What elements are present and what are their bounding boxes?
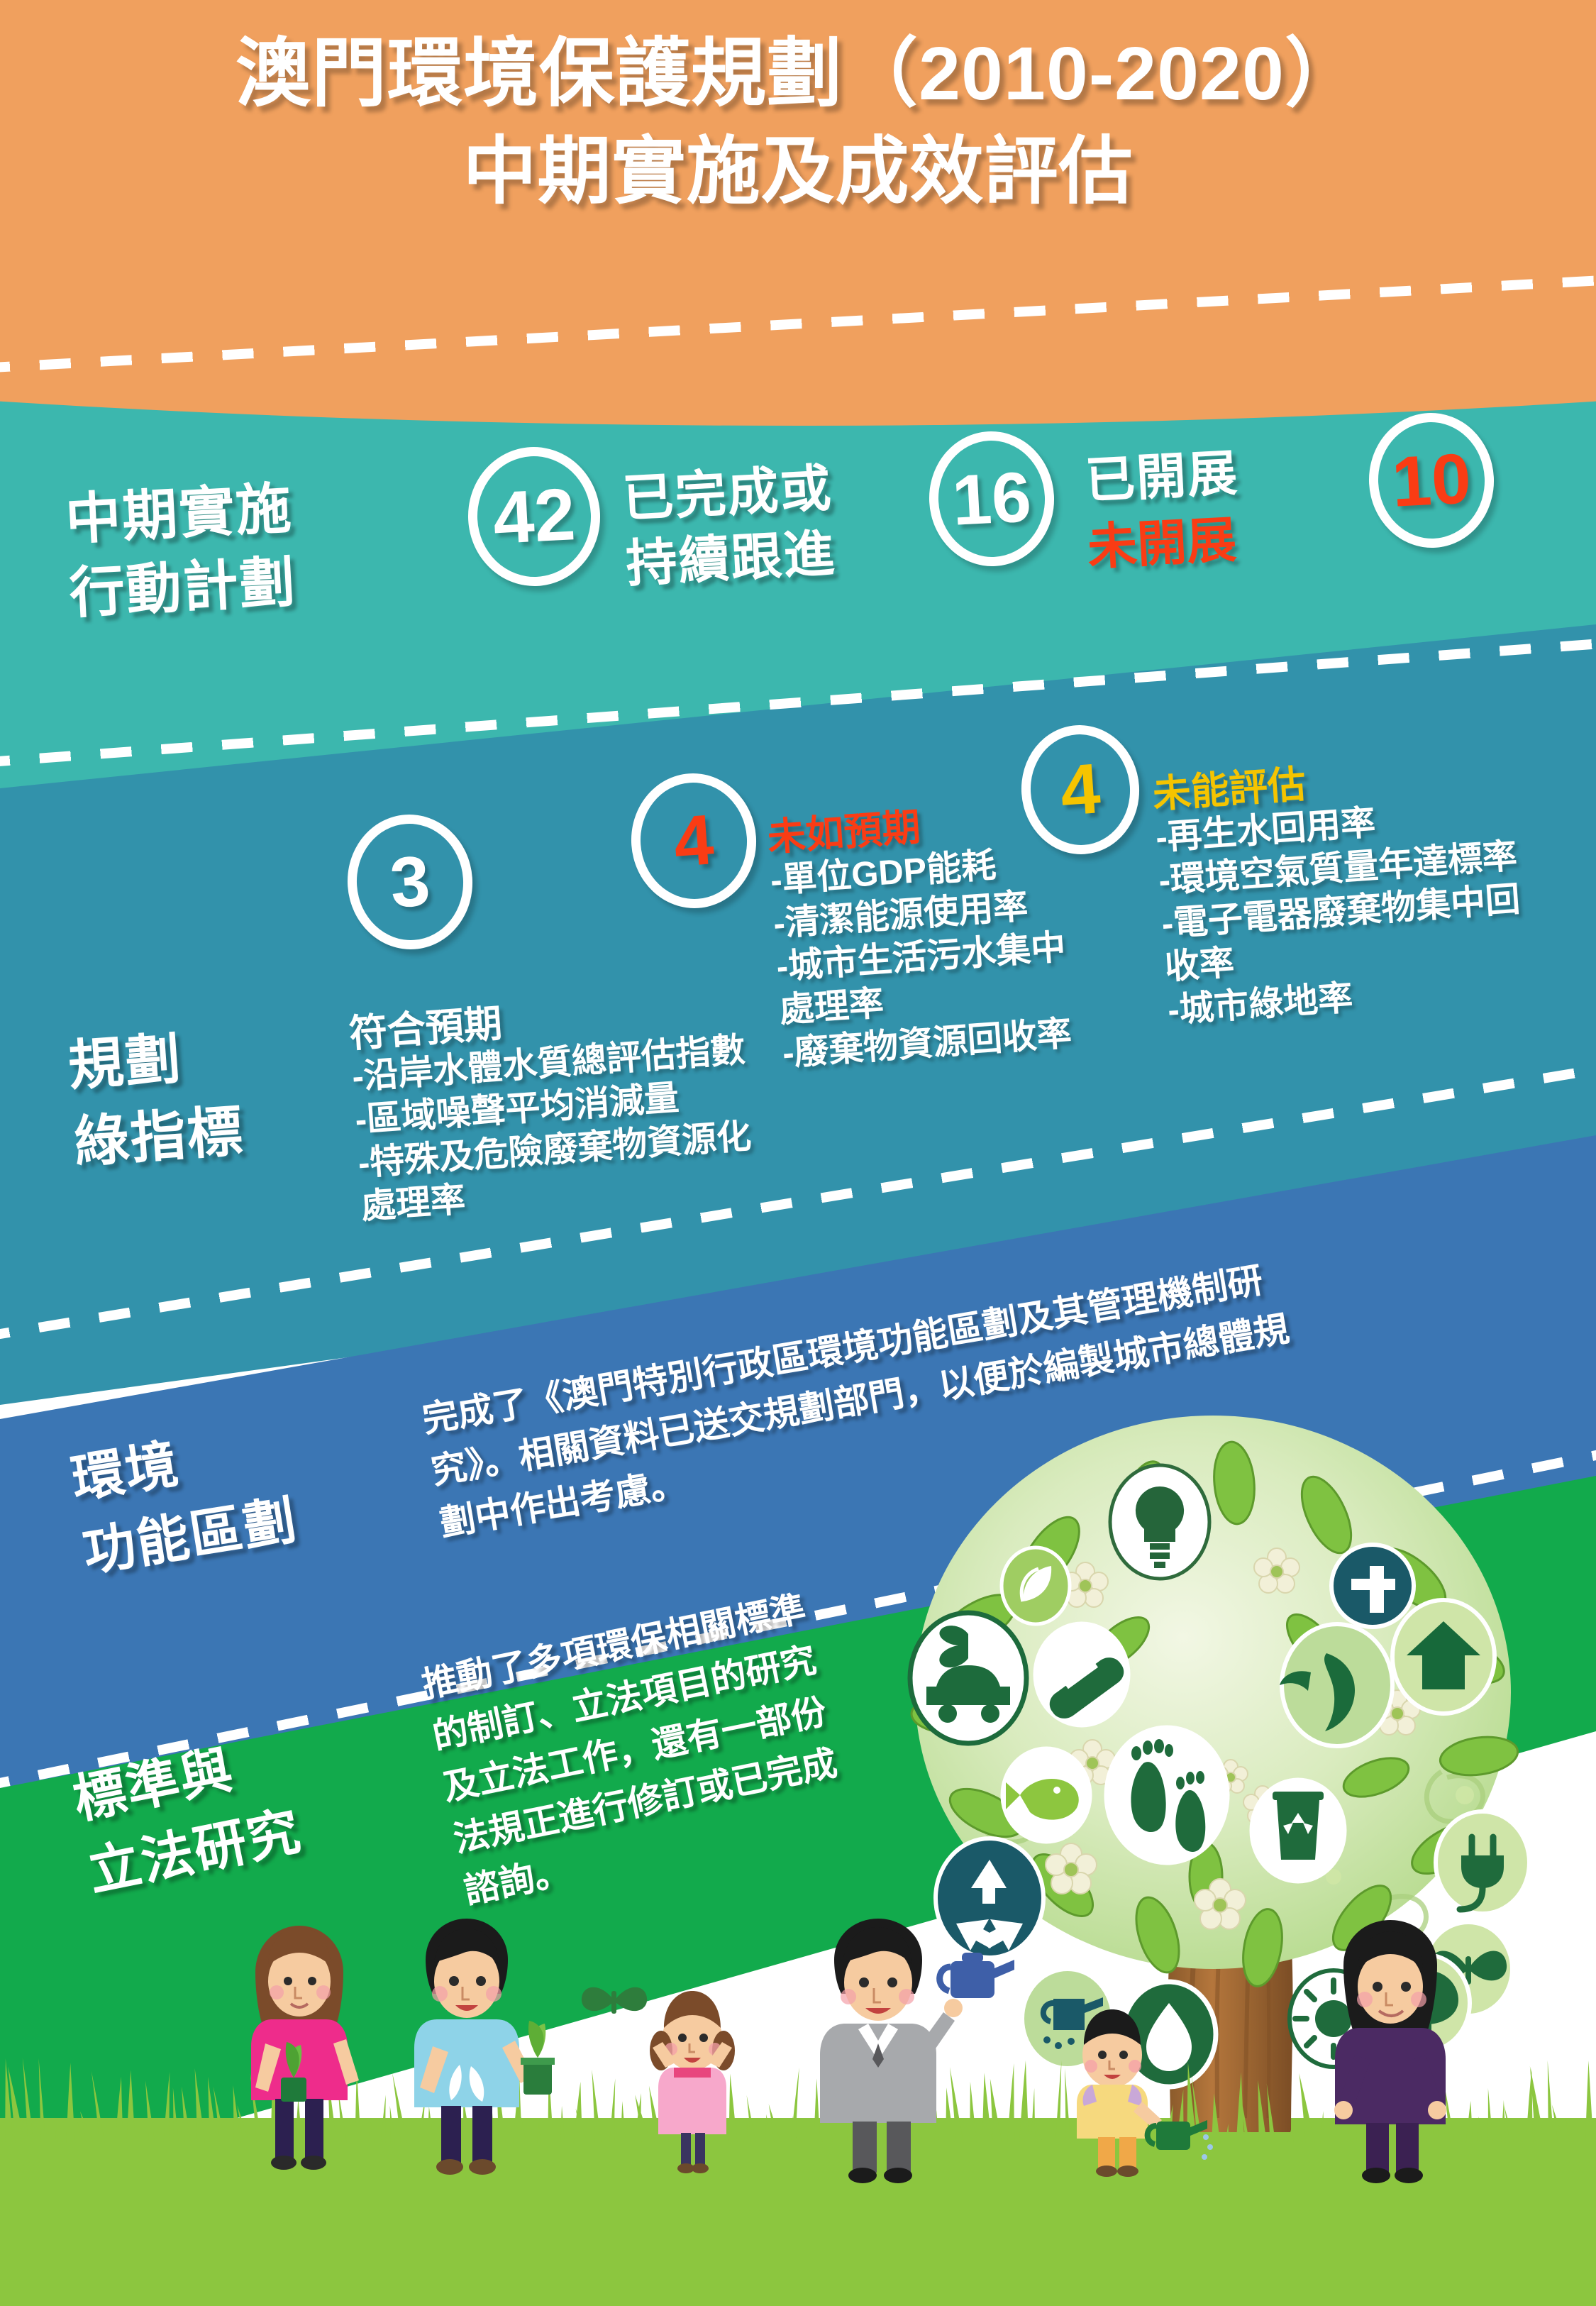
fish-icon xyxy=(1002,1748,1090,1842)
stat-label-not-started: 未開展 xyxy=(1086,509,1238,579)
footprint-icon xyxy=(1106,1727,1228,1863)
faucet-icon xyxy=(1331,1545,1414,1627)
stat-label-completed: 已完成或 持續跟進 xyxy=(621,456,837,597)
title-line-2: 中期實施及成效評估 xyxy=(0,126,1596,217)
indicator-group-items: -沿岸水體水質總評估指數 -區域噪聲平均消減量 -特殊及危險廢棄物資源化 處理率 xyxy=(350,1025,815,1229)
indicator-group-on-target: 符合預期 -沿岸水體水質總評估指數 -區域噪聲平均消減量 -特殊及危險廢棄物資源… xyxy=(348,981,816,1229)
man-blue-with-seedling xyxy=(414,1919,555,2175)
man-suit-with-watering-can xyxy=(820,1919,1014,2183)
power-plug-icon xyxy=(1436,1811,1529,1914)
title-line-1: 澳門環境保護規劃（2010-2020） xyxy=(0,28,1596,119)
stat-label-started: 已開展 xyxy=(1084,441,1240,512)
woman-pink-with-plant xyxy=(251,1926,359,2170)
toddler-with-watering-can xyxy=(1077,2009,1213,2177)
indicator-group-unassessed: 未能評估 -再生水回用率 -環境空氣質量年達標率 -電子電器廢棄物集中回 收率 … xyxy=(1151,744,1594,1033)
recycle-bottle-icon xyxy=(1035,1623,1129,1726)
infographic-poster: 澳門環境保護規劃（2010-2020） 中期實施及成效評估 中期實施 行動計劃 … xyxy=(0,0,1596,2306)
indicator-group-items: -再生水回用率 -環境空氣質量年達標率 -電子電器廢棄物集中回 收率 -城市綠地… xyxy=(1154,787,1594,1032)
bird-icon xyxy=(1280,1624,1392,1746)
watering-can-green-small xyxy=(1148,2120,1213,2160)
lightbulb-icon xyxy=(1110,1465,1209,1579)
poster-title: 澳門環境保護規劃（2010-2020） 中期實施及成效評估 xyxy=(0,28,1596,217)
watering-can-blue xyxy=(940,1953,1014,1998)
butterfly-accent xyxy=(582,1987,647,2014)
people-illustration xyxy=(213,1916,1490,2214)
section-label-action-plan: 中期實施 行動計劃 xyxy=(64,471,298,630)
recycle-bin-icon xyxy=(1251,1780,1345,1882)
leaf-icon xyxy=(1002,1548,1070,1624)
eco-car-icon xyxy=(910,1613,1026,1743)
house-icon xyxy=(1392,1600,1495,1714)
section-label-green-indicators: 規劃 綠指標 xyxy=(66,1016,246,1181)
indicator-group-items: -單位GDP能耗 -清潔能源使用率 -城市生活污水集中 處理率 -廢棄物資源回收… xyxy=(769,832,1180,1076)
girl-pink xyxy=(650,1991,735,2173)
woman-purple xyxy=(1334,1920,1446,2183)
